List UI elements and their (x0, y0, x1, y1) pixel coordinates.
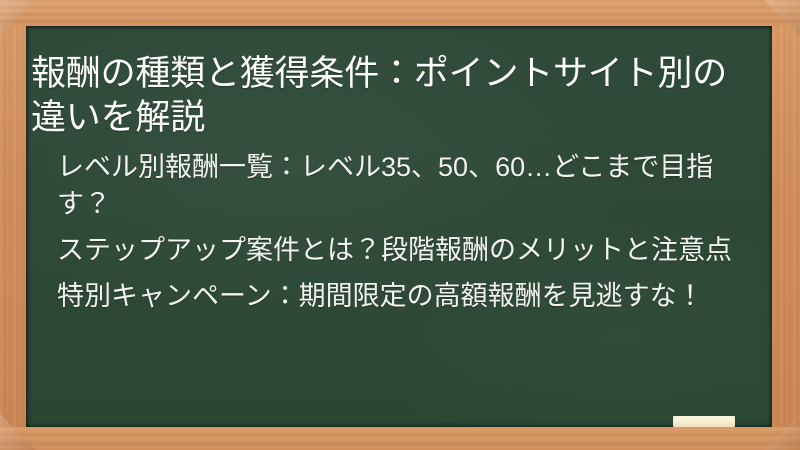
chalk-stick-icon (673, 416, 735, 427)
frame-rail-top (0, 0, 800, 26)
frame-rail-bottom (0, 427, 800, 450)
chalkboard-surface: 報酬の種類と獲得条件：ポイントサイト別の違いを解説 レベル別報酬一覧：レベル35… (26, 26, 772, 427)
list-item: 特別キャンペーン：期間限定の高額報酬を見逃すな！ (57, 278, 747, 315)
page-title: 報酬の種類と獲得条件：ポイントサイト別の違いを解説 (31, 52, 745, 140)
chalkboard-slide: 報酬の種類と獲得条件：ポイントサイト別の違いを解説 レベル別報酬一覧：レベル35… (0, 0, 800, 450)
list-item: レベル別報酬一覧：レベル35、50、60…どこまで目指す？ (57, 149, 747, 223)
list-item: ステップアップ案件とは？段階報酬のメリットと注意点 (57, 232, 747, 269)
topic-list: レベル別報酬一覧：レベル35、50、60…どこまで目指す？ ステップアップ案件と… (57, 149, 747, 324)
